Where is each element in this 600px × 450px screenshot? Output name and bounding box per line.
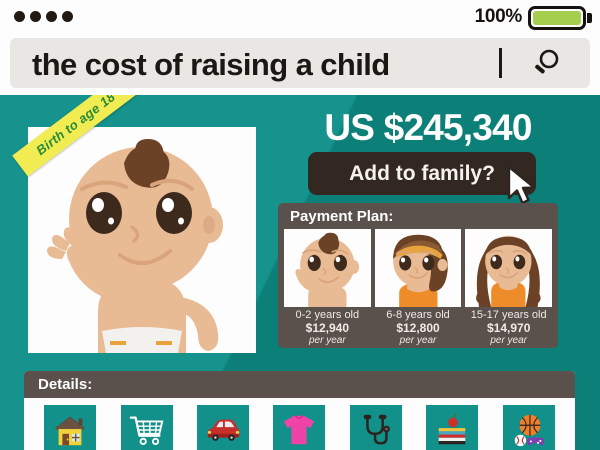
tier-image-0[interactable]	[284, 229, 371, 307]
product-stage: Birth to age 18 US $245,340 Add to famil…	[0, 95, 600, 450]
details-item-food[interactable]	[121, 405, 173, 450]
search-input[interactable]: the cost of raising a child	[32, 47, 390, 83]
tier-amount: $14,970	[465, 321, 552, 335]
search-icon[interactable]	[530, 48, 562, 80]
details-panel: Details:	[24, 371, 575, 450]
tier-age: 15-17 years old	[465, 309, 552, 321]
tshirt-icon	[280, 411, 318, 449]
tier-image-1[interactable]	[375, 229, 462, 307]
stethoscope-icon	[357, 411, 395, 449]
tier-1: 6-8 years old $12,800 per year	[375, 309, 462, 345]
books-apple-icon	[433, 411, 471, 449]
tier-age: 6-8 years old	[375, 309, 462, 321]
price-label: US $245,340	[278, 107, 578, 149]
search-bar[interactable]: the cost of raising a child	[10, 38, 590, 88]
details-item-housing[interactable]	[44, 405, 96, 450]
tier-period: per year	[284, 335, 371, 346]
tier-period: per year	[375, 335, 462, 346]
details-item-healthcare[interactable]	[350, 405, 402, 450]
tier-0: 0-2 years old $12,940 per year	[284, 309, 371, 345]
car-icon	[204, 411, 242, 449]
tier-image-2[interactable]	[465, 229, 552, 307]
sports-games-icon	[510, 411, 548, 449]
tier-age: 0-2 years old	[284, 309, 371, 321]
payment-plan-panel: Payment Plan:	[278, 203, 558, 348]
hero-image-card[interactable]: Birth to age 18	[28, 127, 256, 353]
details-header: Details:	[24, 371, 575, 398]
signal-strength-icon	[14, 11, 73, 22]
battery-cap-icon	[587, 13, 592, 23]
tier-amount: $12,940	[284, 321, 371, 335]
payment-plan-title: Payment Plan:	[290, 208, 393, 225]
details-item-clothing[interactable]	[273, 405, 325, 450]
house-icon	[51, 411, 89, 449]
battery-percent-label: 100%	[475, 6, 522, 28]
details-title: Details:	[38, 376, 92, 393]
phone-screen: 100% the cost of raising a child	[0, 0, 600, 450]
battery-icon	[528, 6, 586, 30]
details-icon-row	[24, 398, 575, 450]
text-caret	[499, 48, 502, 78]
add-to-family-button[interactable]: Add to family?	[308, 152, 536, 195]
payment-plan-tiers: 0-2 years old $12,940 per year 6-8 years…	[284, 309, 552, 345]
payment-plan-images	[284, 229, 552, 307]
status-bar: 100%	[0, 0, 600, 36]
tier-2: 15-17 years old $14,970 per year	[465, 309, 552, 345]
baby-illustration	[28, 127, 256, 353]
tier-period: per year	[465, 335, 552, 346]
details-item-education[interactable]	[426, 405, 478, 450]
details-item-miscellaneous[interactable]	[503, 405, 555, 450]
details-item-transportation[interactable]	[197, 405, 249, 450]
shopping-cart-icon	[128, 411, 166, 449]
tier-amount: $12,800	[375, 321, 462, 335]
